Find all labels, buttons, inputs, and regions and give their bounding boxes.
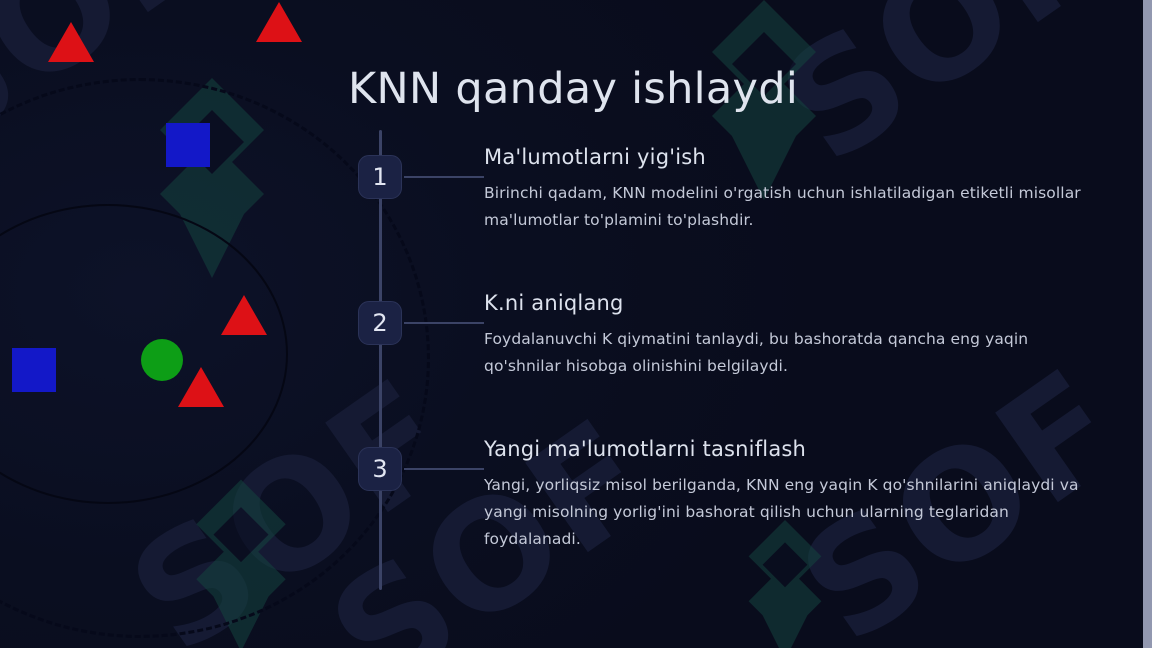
vertical-scrollbar[interactable] <box>1143 0 1152 648</box>
step-description: Yangi, yorliqsiz misol berilganda, KNN e… <box>484 472 1098 553</box>
step-description: Foydalanuvchi K qiymatini tanlaydi, bu b… <box>484 326 1098 380</box>
step-connector <box>404 468 484 470</box>
knn-neighborhood-boundary <box>0 204 288 504</box>
step-title: Yangi ma'lumotlarni tasniflash <box>484 437 1098 461</box>
step-number-badge: 2 <box>358 301 402 345</box>
step-body: K.ni aniqlang Foydalanuvchi K qiymatini … <box>484 291 1098 380</box>
step-title: K.ni aniqlang <box>484 291 1098 315</box>
slide-canvas: SOF SOF SOF SOF SOF <box>0 0 1152 648</box>
step-description: Birinchi qadam, KNN modelini o'rgatish u… <box>484 180 1098 234</box>
knn-square-point <box>166 123 210 167</box>
slide-title: KNN qanday ishlaydi <box>348 64 798 114</box>
step-number-badge: 3 <box>358 447 402 491</box>
brand-logo-icon <box>148 78 276 278</box>
step-number-badge: 1 <box>358 155 402 199</box>
knn-triangle-point <box>178 367 224 407</box>
knn-triangle-point <box>256 2 302 42</box>
step-body: Ma'lumotlarni yig'ish Birinchi qadam, KN… <box>484 145 1098 234</box>
step-title: Ma'lumotlarni yig'ish <box>484 145 1098 169</box>
step-body: Yangi ma'lumotlarni tasniflash Yangi, yo… <box>484 437 1098 553</box>
brand-logo-icon <box>186 478 296 648</box>
knn-triangle-point <box>48 22 94 62</box>
knn-square-point <box>12 348 56 392</box>
step-connector <box>404 176 484 178</box>
timeline: 1 Ma'lumotlarni yig'ish Birinchi qadam, … <box>358 130 1098 600</box>
timeline-spine <box>379 130 382 590</box>
knn-query-point <box>141 339 183 381</box>
watermark-text: SOF <box>0 0 243 187</box>
step-connector <box>404 322 484 324</box>
knn-triangle-point <box>221 295 267 335</box>
